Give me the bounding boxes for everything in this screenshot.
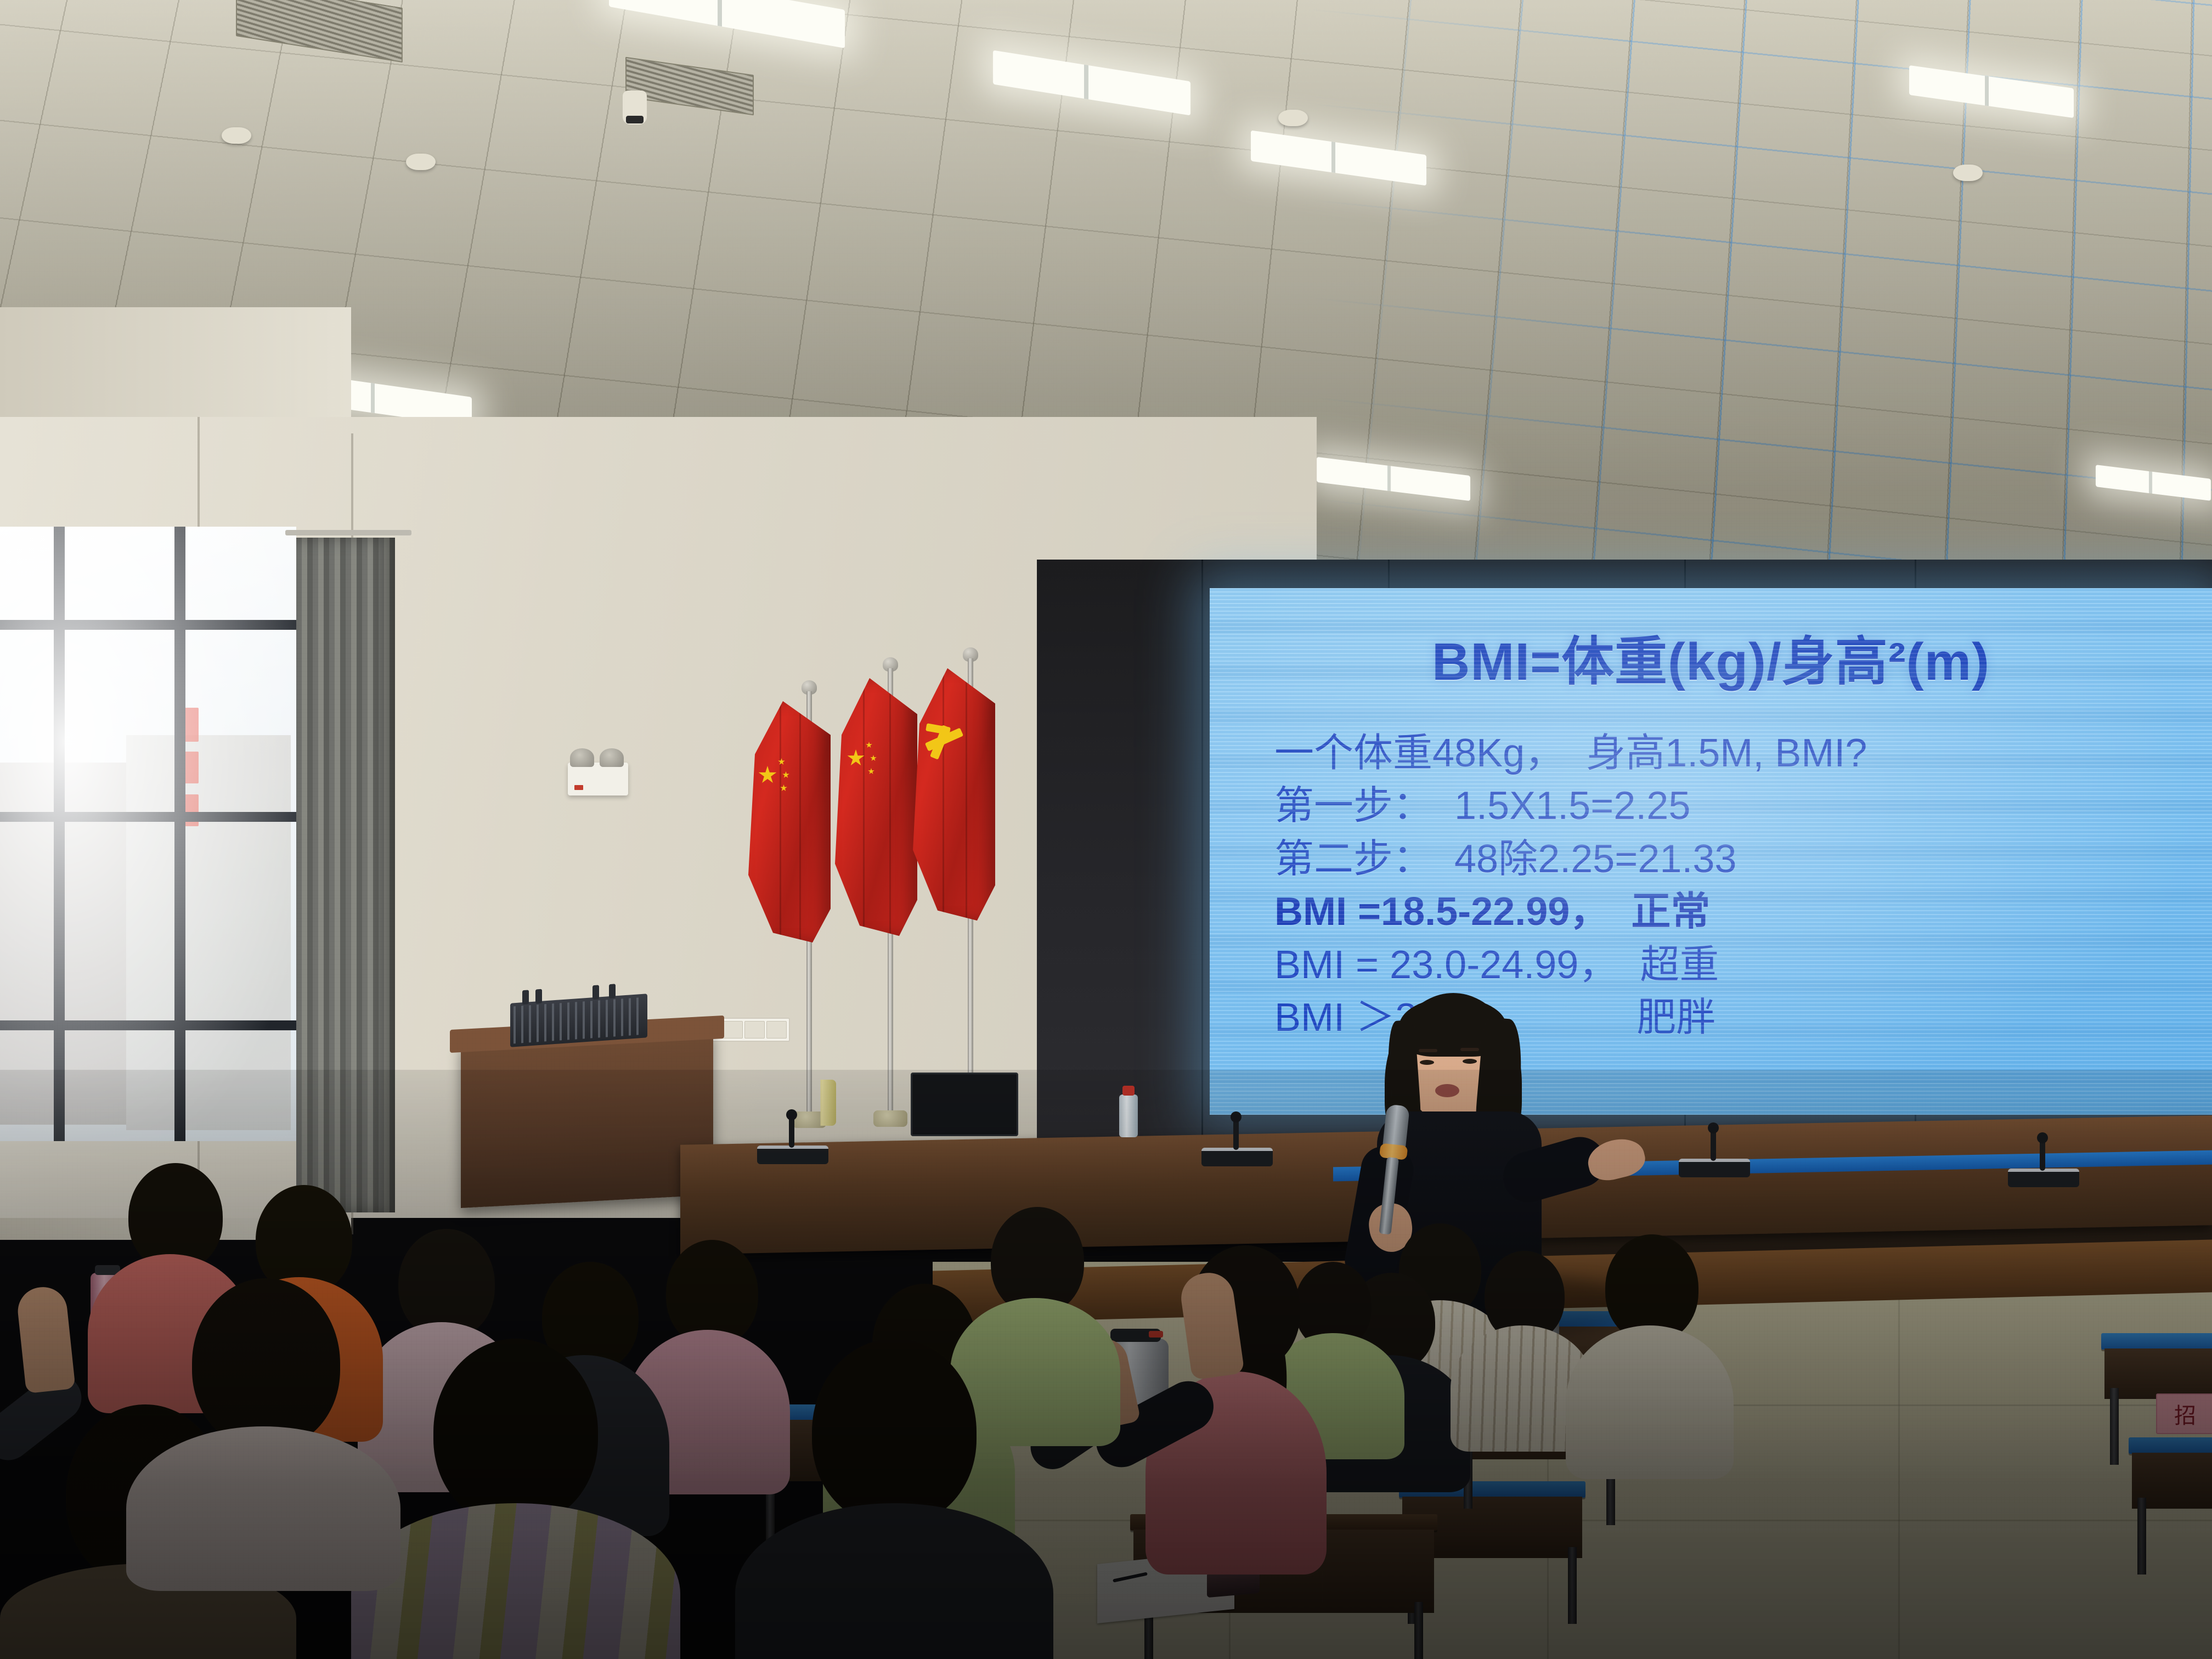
- audience-head: [433, 1339, 598, 1525]
- microphone-capsule: [1383, 1104, 1410, 1149]
- desk-top: [2129, 1437, 2212, 1454]
- flag-star-large: [847, 749, 865, 767]
- window-mullion: [0, 620, 296, 630]
- audience-body: [126, 1426, 400, 1591]
- audience-head: [192, 1278, 340, 1448]
- window-wall: [0, 527, 296, 1141]
- window-mullion: [0, 1020, 296, 1030]
- flag-base: [873, 1110, 907, 1127]
- audience-member-front: [126, 1278, 411, 1585]
- window-curtain[interactable]: [296, 538, 395, 1212]
- conference-room-photo: document.querySelector('.switches').styl…: [0, 0, 2212, 1659]
- desk-top: [2101, 1333, 2212, 1350]
- smoke-detector: [222, 127, 251, 144]
- audience-body: [735, 1503, 1053, 1659]
- outside-red-sign: [184, 752, 199, 783]
- flag-star-small: [868, 768, 874, 775]
- emergency-light: [568, 763, 628, 795]
- fire-sprinkler: [1657, 307, 1666, 326]
- audience-member: [1558, 1234, 1739, 1470]
- emergency-light-indicator: [574, 785, 583, 790]
- window-mullion: [54, 527, 65, 1141]
- light-switch[interactable]: [766, 1021, 787, 1039]
- presenter-eyebrow: [1460, 1048, 1479, 1051]
- desk-name-sign: 招: [2156, 1393, 2212, 1434]
- fire-sprinkler: [856, 44, 865, 63]
- flag-star-small: [778, 758, 785, 765]
- student-desk: [2129, 1437, 2212, 1509]
- flag-star-large: [758, 766, 777, 785]
- audience-member-front: [724, 1339, 1064, 1659]
- light-switch[interactable]: [744, 1021, 765, 1039]
- flag-center: [866, 668, 915, 1124]
- confidence-monitor: [911, 1073, 1018, 1136]
- flag-star-small: [866, 742, 872, 748]
- flag-star-small: [870, 755, 877, 761]
- emergency-lamp-head: [600, 748, 624, 767]
- outside-building: [126, 735, 291, 1130]
- raised-hand: [15, 1285, 75, 1393]
- window-mullion: [0, 812, 296, 822]
- light-switch[interactable]: [722, 1021, 742, 1039]
- audience-head: [812, 1339, 977, 1525]
- fire-sprinkler: [538, 291, 546, 309]
- conference-microphone[interactable]: [757, 1145, 828, 1164]
- smoke-detector: [406, 154, 436, 170]
- water-bottle: [1119, 1094, 1138, 1137]
- flag-right: [946, 658, 995, 1125]
- presenter-mouth: [1435, 1084, 1459, 1097]
- security-camera: [623, 91, 647, 125]
- hammer-and-sickle-emblem: [922, 721, 967, 764]
- flag-left: [785, 691, 834, 1125]
- flag-star-small: [782, 771, 789, 778]
- outside-red-sign: [184, 708, 199, 742]
- curtain-rod: [285, 530, 411, 535]
- conference-microphone[interactable]: [2008, 1169, 2079, 1187]
- fire-sprinkler: [55, 88, 64, 106]
- conference-microphone[interactable]: [1201, 1148, 1273, 1166]
- presenter-eye: [1463, 1059, 1477, 1064]
- conference-microphone[interactable]: [1679, 1159, 1750, 1177]
- presenter-eyebrow: [1419, 1049, 1437, 1052]
- presenter-eye: [1420, 1060, 1434, 1065]
- bottle-cap: [1122, 1086, 1135, 1096]
- smoke-detector: [1278, 110, 1308, 126]
- lectern-podium: [461, 1030, 713, 1208]
- emergency-lamp-head: [570, 748, 594, 767]
- audience-body: [1566, 1325, 1734, 1479]
- window-mullion: [174, 527, 185, 1141]
- student-desk: [2101, 1333, 2212, 1399]
- smoke-detector: [1953, 165, 1983, 181]
- yellow-container: [811, 1080, 836, 1126]
- fire-sprinkler: [1481, 49, 1490, 68]
- water-kettle: [680, 1094, 709, 1147]
